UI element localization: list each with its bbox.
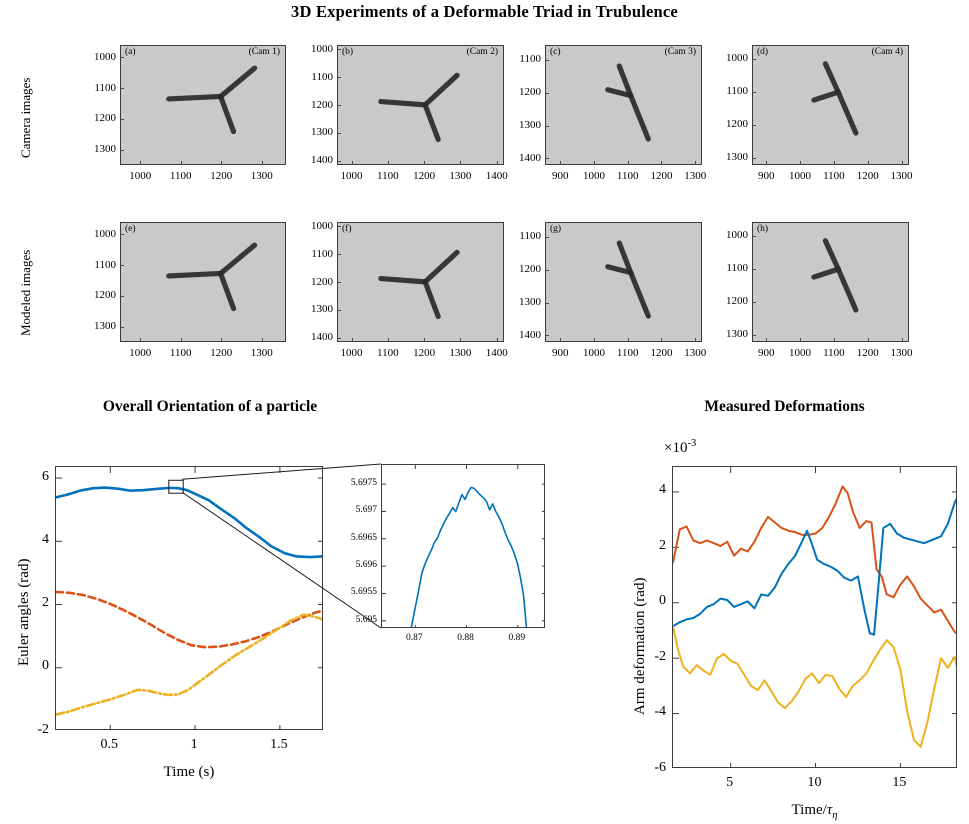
panel-ytick-label: 1100 bbox=[301, 249, 333, 260]
panel-xtick-label: 1000 bbox=[332, 171, 372, 182]
yaxis-label: Arm deformation (rad) bbox=[632, 578, 649, 715]
panel-frame: (b)(Cam 2) bbox=[337, 45, 504, 165]
ytick-label: 5.695 bbox=[287, 615, 377, 625]
panel-xtick-label: 1300 bbox=[882, 171, 922, 182]
panel-ytick-label: 1200 bbox=[301, 100, 333, 111]
panel-ytick-label: 1300 bbox=[301, 127, 333, 138]
triad-arm-3 bbox=[221, 273, 234, 308]
panel-xtick-label: 1100 bbox=[161, 171, 201, 182]
panel-ytick-label: 1000 bbox=[301, 221, 333, 232]
triad-arm-3 bbox=[838, 269, 856, 310]
panel-ytick-mark bbox=[752, 236, 756, 237]
panel-xtick-mark bbox=[388, 338, 389, 342]
inset-axes bbox=[381, 464, 545, 628]
panel-xtick-label: 1200 bbox=[404, 348, 444, 359]
panel-xtick-mark bbox=[460, 338, 461, 342]
triad-arm-3 bbox=[425, 282, 438, 317]
panel-xtick-mark bbox=[560, 161, 561, 165]
panel-ytick-mark bbox=[752, 302, 756, 303]
panel-xtick-mark bbox=[800, 161, 801, 165]
panel-xtick-label: 1300 bbox=[675, 348, 715, 359]
panel-ytick-mark bbox=[120, 88, 124, 89]
panel-xtick-mark bbox=[352, 161, 353, 165]
panel-ytick-mark bbox=[337, 254, 341, 255]
panel-xtick-mark bbox=[181, 161, 182, 165]
panel-xtick-label: 1000 bbox=[120, 171, 160, 182]
panel-ytick-mark bbox=[120, 296, 124, 297]
panel-ytick-label: 1200 bbox=[509, 87, 541, 98]
ytick-label: 5.696 bbox=[287, 560, 377, 570]
panel-xtick-mark bbox=[560, 338, 561, 342]
panel-xtick-mark bbox=[140, 161, 141, 165]
triad-arm-1 bbox=[825, 64, 838, 92]
panel-xtick-mark bbox=[221, 338, 222, 342]
triad-shape bbox=[753, 223, 909, 342]
panel-frame: (c)(Cam 3) bbox=[545, 45, 702, 165]
series-arm-1 bbox=[673, 486, 957, 634]
panel-xtick-mark bbox=[594, 338, 595, 342]
plot-canvas bbox=[56, 467, 323, 730]
triad-shape bbox=[753, 46, 909, 165]
panel-ytick-label: 1000 bbox=[301, 44, 333, 55]
panel-tag: (f) bbox=[342, 224, 352, 235]
ytick-label: 6 bbox=[0, 470, 49, 484]
panel-ytick-mark bbox=[337, 161, 341, 162]
panel-tag: (e) bbox=[125, 224, 136, 235]
panel-ytick-mark bbox=[545, 60, 549, 61]
panel-xtick-mark bbox=[497, 338, 498, 342]
ytick-label: -6 bbox=[576, 761, 666, 775]
xtick-label: 0.5 bbox=[69, 738, 149, 752]
panel-frame: (e) bbox=[120, 222, 286, 342]
image-panel-e: (e)10001100120013001000110012001300 bbox=[120, 222, 286, 342]
ytick-label: 2 bbox=[576, 539, 666, 553]
panel-ytick-label: 1400 bbox=[509, 330, 541, 341]
panel-camera-label: (Cam 3) bbox=[665, 47, 696, 58]
panel-ytick-mark bbox=[545, 93, 549, 94]
panel-ytick-label: 1000 bbox=[716, 230, 748, 241]
image-panel-c: (c)(Cam 3)110012001300140090010001100120… bbox=[545, 45, 702, 165]
panel-xtick-mark bbox=[868, 161, 869, 165]
panel-ytick-mark bbox=[752, 158, 756, 159]
plot-axes bbox=[55, 466, 323, 730]
panel-ytick-label: 1300 bbox=[509, 120, 541, 131]
triad-arm-2 bbox=[381, 279, 425, 282]
panel-ytick-label: 1300 bbox=[84, 321, 116, 332]
panel-ytick-label: 1100 bbox=[301, 72, 333, 83]
panel-xtick-mark bbox=[695, 161, 696, 165]
ytick-label: 4 bbox=[0, 533, 49, 547]
xtick-label: 5 bbox=[690, 776, 770, 790]
triad-arm-3 bbox=[425, 105, 438, 140]
panel-xtick-label: 1300 bbox=[882, 348, 922, 359]
panel-xtick-label: 1200 bbox=[201, 171, 241, 182]
series-theta bbox=[56, 592, 323, 647]
panel-ytick-mark bbox=[120, 57, 124, 58]
xtick-label: 15 bbox=[859, 776, 939, 790]
panel-frame: (f) bbox=[337, 222, 504, 342]
panel-tag: (b) bbox=[342, 47, 353, 58]
panel-ytick-label: 1300 bbox=[716, 152, 748, 163]
triad-arm-1 bbox=[221, 245, 255, 273]
panel-ytick-mark bbox=[545, 237, 549, 238]
triad-arm-2 bbox=[169, 96, 221, 98]
panel-ytick-mark bbox=[545, 126, 549, 127]
ytick-label: 4 bbox=[576, 483, 666, 497]
triad-arm-3 bbox=[631, 96, 649, 139]
panel-ytick-label: 1300 bbox=[84, 144, 116, 155]
image-panel-b: (b)(Cam 2)100011001200130014001000110012… bbox=[337, 45, 504, 165]
panel-ytick-label: 1100 bbox=[716, 263, 748, 274]
panel-frame: (h) bbox=[752, 222, 909, 342]
ytick-label: 0 bbox=[576, 594, 666, 608]
image-panel-h: (h)10001100120013009001000110012001300 bbox=[752, 222, 909, 342]
xaxis-label: Time (s) bbox=[55, 764, 323, 781]
panel-xtick-label: 1300 bbox=[440, 171, 480, 182]
xtick-label: 1.5 bbox=[239, 738, 319, 752]
panel-xtick-label: 1200 bbox=[201, 348, 241, 359]
triad-arm-1 bbox=[221, 68, 255, 96]
panel-xtick-mark bbox=[868, 338, 869, 342]
panel-xtick-mark bbox=[800, 338, 801, 342]
panel-ytick-mark bbox=[752, 59, 756, 60]
panel-ytick-mark bbox=[337, 338, 341, 339]
panel-xtick-label: 1000 bbox=[332, 348, 372, 359]
ytick-label: 5.6955 bbox=[287, 587, 377, 597]
panel-xtick-mark bbox=[262, 338, 263, 342]
panel-ytick-label: 1100 bbox=[84, 260, 116, 271]
panel-tag: (h) bbox=[757, 224, 768, 235]
row-label-modeled-images: Modeled images bbox=[18, 250, 34, 336]
panel-camera-label: (Cam 4) bbox=[872, 47, 903, 58]
xtick-label: 1 bbox=[154, 738, 234, 752]
panel-xtick-label: 1300 bbox=[242, 171, 282, 182]
panel-ytick-mark bbox=[337, 226, 341, 227]
panel-xtick-mark bbox=[262, 161, 263, 165]
panel-xtick-mark bbox=[661, 161, 662, 165]
series-arm-2 bbox=[673, 496, 957, 635]
panel-ytick-label: 1100 bbox=[509, 231, 541, 242]
panel-ytick-mark bbox=[120, 150, 124, 151]
triad-arm-2 bbox=[381, 102, 425, 105]
panel-xtick-mark bbox=[140, 338, 141, 342]
panel-ytick-label: 1000 bbox=[84, 52, 116, 63]
triad-shape bbox=[338, 223, 504, 342]
triad-shape bbox=[121, 46, 286, 165]
plot-canvas bbox=[382, 465, 545, 628]
panel-ytick-label: 1200 bbox=[509, 264, 541, 275]
panel-xtick-label: 1100 bbox=[161, 348, 201, 359]
panel-ytick-mark bbox=[337, 310, 341, 311]
panel-xtick-mark bbox=[460, 161, 461, 165]
panel-ytick-label: 1400 bbox=[301, 332, 333, 343]
panel-ytick-label: 1400 bbox=[509, 153, 541, 164]
panel-xtick-mark bbox=[424, 161, 425, 165]
panel-xtick-mark bbox=[497, 161, 498, 165]
panel-xtick-mark bbox=[766, 161, 767, 165]
panel-ytick-mark bbox=[545, 158, 549, 159]
image-panel-a: (a)(Cam 1)100011001200130010001100120013… bbox=[120, 45, 286, 165]
triad-shape bbox=[546, 223, 702, 342]
panel-xtick-mark bbox=[661, 338, 662, 342]
panel-ytick-mark bbox=[545, 303, 549, 304]
triad-arm-2 bbox=[169, 273, 221, 275]
panel-ytick-mark bbox=[337, 282, 341, 283]
triad-arm-1 bbox=[425, 252, 457, 282]
panel-ytick-mark bbox=[337, 49, 341, 50]
orientation-chart-title: Overall Orientation of a particle bbox=[0, 398, 420, 416]
figure-root: 3D Experiments of a Deformable Triad in … bbox=[0, 0, 969, 824]
panel-tag: (g) bbox=[550, 224, 561, 235]
ytick-label: 5.6975 bbox=[287, 478, 377, 488]
series-phi-zoom bbox=[411, 487, 526, 628]
panel-xtick-label: 1000 bbox=[120, 348, 160, 359]
image-panel-f: (f)1000110012001300140010001100120013001… bbox=[337, 222, 504, 342]
page-title: 3D Experiments of a Deformable Triad in … bbox=[0, 2, 969, 22]
ytick-label: -4 bbox=[576, 705, 666, 719]
triad-arm-1 bbox=[425, 75, 457, 105]
triad-arm-2 bbox=[814, 269, 838, 277]
panel-ytick-mark bbox=[545, 335, 549, 336]
image-panel-g: (g)11001200130014009001000110012001300 bbox=[545, 222, 702, 342]
panel-xtick-label: 1200 bbox=[404, 171, 444, 182]
panel-xtick-mark bbox=[834, 338, 835, 342]
panel-ytick-label: 1300 bbox=[509, 297, 541, 308]
panel-ytick-label: 1100 bbox=[84, 83, 116, 94]
series-phi bbox=[56, 488, 323, 558]
panel-xtick-label: 1100 bbox=[368, 348, 408, 359]
panel-xtick-label: 1400 bbox=[477, 348, 517, 359]
panel-ytick-mark bbox=[120, 265, 124, 266]
plot-axes bbox=[672, 466, 957, 768]
panel-ytick-mark bbox=[120, 234, 124, 235]
triad-shape bbox=[338, 46, 504, 165]
panel-ytick-mark bbox=[337, 133, 341, 134]
panel-camera-label: (Cam 1) bbox=[249, 47, 280, 58]
row-label-camera-images: Camera images bbox=[18, 78, 34, 159]
exponent-base: 10 bbox=[672, 440, 687, 456]
panel-xtick-label: 1400 bbox=[477, 171, 517, 182]
panel-tag: (c) bbox=[550, 47, 561, 58]
panel-xtick-mark bbox=[628, 338, 629, 342]
panel-xtick-mark bbox=[766, 338, 767, 342]
panel-ytick-label: 1200 bbox=[716, 296, 748, 307]
triad-arm-2 bbox=[814, 92, 838, 100]
xtick-label: 10 bbox=[775, 776, 855, 790]
panel-ytick-mark bbox=[337, 77, 341, 78]
panel-ytick-mark bbox=[545, 270, 549, 271]
xaxis-label: Time/τη bbox=[672, 802, 957, 821]
ytick-label: -2 bbox=[0, 723, 49, 737]
ytick-label: -2 bbox=[576, 650, 666, 664]
panel-xtick-mark bbox=[352, 338, 353, 342]
triad-shape bbox=[121, 223, 286, 342]
panel-ytick-mark bbox=[752, 92, 756, 93]
panel-xtick-mark bbox=[594, 161, 595, 165]
plot-canvas bbox=[673, 467, 957, 768]
panel-ytick-mark bbox=[752, 335, 756, 336]
panel-frame: (g) bbox=[545, 222, 702, 342]
panel-tag: (a) bbox=[125, 47, 136, 58]
series-arm-3 bbox=[673, 626, 957, 747]
panel-xtick-label: 1300 bbox=[242, 348, 282, 359]
panel-ytick-label: 1000 bbox=[716, 53, 748, 64]
image-panel-d: (d)(Cam 4)100011001200130090010001100120… bbox=[752, 45, 909, 165]
panel-ytick-label: 1200 bbox=[84, 290, 116, 301]
ytick-label: 5.6965 bbox=[287, 533, 377, 543]
panel-xtick-mark bbox=[902, 338, 903, 342]
panel-xtick-mark bbox=[695, 338, 696, 342]
xaxis-label-text: Time/ bbox=[792, 802, 827, 818]
panel-xtick-label: 1100 bbox=[368, 171, 408, 182]
panel-xtick-mark bbox=[181, 338, 182, 342]
triad-arm-3 bbox=[631, 273, 649, 316]
panel-ytick-label: 1200 bbox=[716, 119, 748, 130]
panel-xtick-mark bbox=[902, 161, 903, 165]
panel-ytick-mark bbox=[752, 125, 756, 126]
panel-ytick-mark bbox=[120, 327, 124, 328]
panel-xtick-mark bbox=[424, 338, 425, 342]
panel-xtick-mark bbox=[221, 161, 222, 165]
panel-ytick-label: 1100 bbox=[509, 54, 541, 65]
exponent-power: -3 bbox=[687, 438, 696, 449]
panel-ytick-label: 1200 bbox=[84, 113, 116, 124]
triad-arm-3 bbox=[838, 92, 856, 133]
panel-ytick-label: 1000 bbox=[84, 229, 116, 240]
ytick-label: 5.697 bbox=[287, 505, 377, 515]
panel-xtick-mark bbox=[388, 161, 389, 165]
panel-xtick-label: 1300 bbox=[675, 171, 715, 182]
xtick-label: 0.89 bbox=[477, 633, 557, 643]
panel-ytick-label: 1100 bbox=[716, 86, 748, 97]
panel-ytick-label: 1200 bbox=[301, 277, 333, 288]
eta-subscript: η bbox=[832, 810, 837, 821]
panel-frame: (d)(Cam 4) bbox=[752, 45, 909, 165]
triad-arm-1 bbox=[825, 241, 838, 269]
panel-camera-label: (Cam 2) bbox=[467, 47, 498, 58]
panel-ytick-label: 1300 bbox=[301, 304, 333, 315]
series-psi bbox=[56, 615, 323, 715]
panel-frame: (a)(Cam 1) bbox=[120, 45, 286, 165]
triad-shape bbox=[546, 46, 702, 165]
panel-xtick-mark bbox=[834, 161, 835, 165]
panel-xtick-label: 1300 bbox=[440, 348, 480, 359]
panel-ytick-label: 1400 bbox=[301, 155, 333, 166]
panel-ytick-mark bbox=[120, 119, 124, 120]
yaxis-label: Euler angles (rad) bbox=[16, 559, 33, 666]
panel-ytick-mark bbox=[752, 269, 756, 270]
panel-tag: (d) bbox=[757, 47, 768, 58]
yaxis-exponent: ×10-3 bbox=[664, 438, 696, 457]
deformations-chart-title: Measured Deformations bbox=[600, 398, 969, 416]
triad-arm-3 bbox=[221, 96, 234, 131]
panel-ytick-label: 1300 bbox=[716, 329, 748, 340]
panel-ytick-mark bbox=[337, 105, 341, 106]
panel-xtick-mark bbox=[628, 161, 629, 165]
